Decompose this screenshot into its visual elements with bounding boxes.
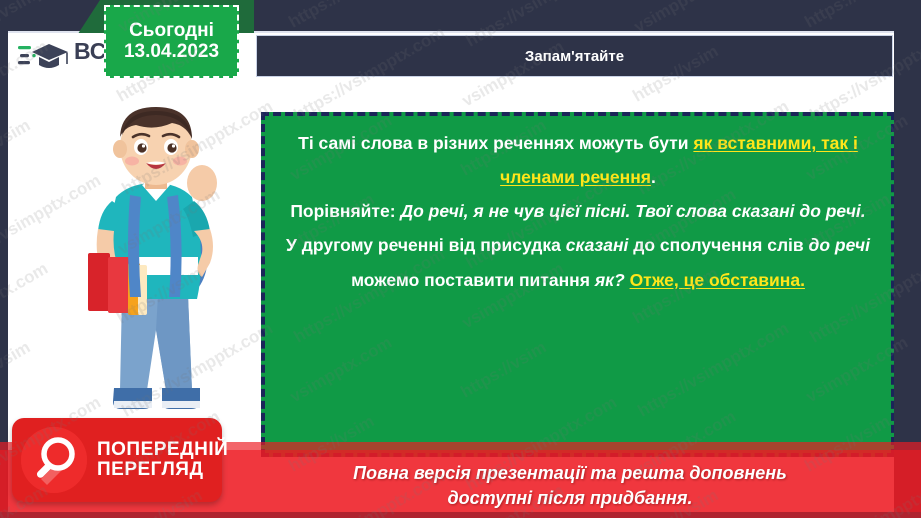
today-date: 13.04.2023 — [124, 41, 219, 63]
magnifier-icon — [21, 427, 87, 493]
paragraph-1: Ті самі слова в різних реченнях можуть б… — [283, 126, 873, 194]
content-box: Ті самі слова в різних реченнях можуть б… — [261, 112, 895, 457]
purchase-banner-text: Повна версія презентації та решта доповн… — [225, 461, 915, 510]
preview-line2: ПЕРЕГЛЯД — [97, 460, 228, 480]
preview-line1: ПОПЕРЕДНІЙ — [97, 440, 228, 460]
today-date-badge: Сьогодні 13.04.2023 — [104, 5, 239, 78]
right-edge-strip — [894, 0, 921, 518]
purchase-banner-line1: Повна версія презентації та решта доповн… — [225, 461, 915, 485]
left-edge-strip — [0, 0, 8, 518]
paragraph-3: У другому реченні від присудка сказані д… — [283, 228, 873, 296]
slide-root: ВСІМ pptx Сьогодні 13.04.2023 Запам'ятай… — [0, 0, 921, 518]
preview-badge-label: ПОПЕРЕДНІЙ ПЕРЕГЛЯД — [97, 440, 228, 480]
preview-badge[interactable]: ПОПЕРЕДНІЙ ПЕРЕГЛЯД — [12, 418, 222, 502]
schoolboy-illustration — [50, 105, 260, 435]
slide-title-bar: Запам'ятайте — [256, 35, 893, 77]
graduation-cap-icon — [18, 39, 70, 73]
page-title: Запам'ятайте — [525, 48, 624, 65]
today-label: Сьогодні — [129, 21, 214, 41]
purchase-banner-line2: доступні після придбання. — [225, 486, 915, 510]
paragraph-2: Порівняйте: До речі, я не чув цієї пісні… — [283, 194, 873, 228]
